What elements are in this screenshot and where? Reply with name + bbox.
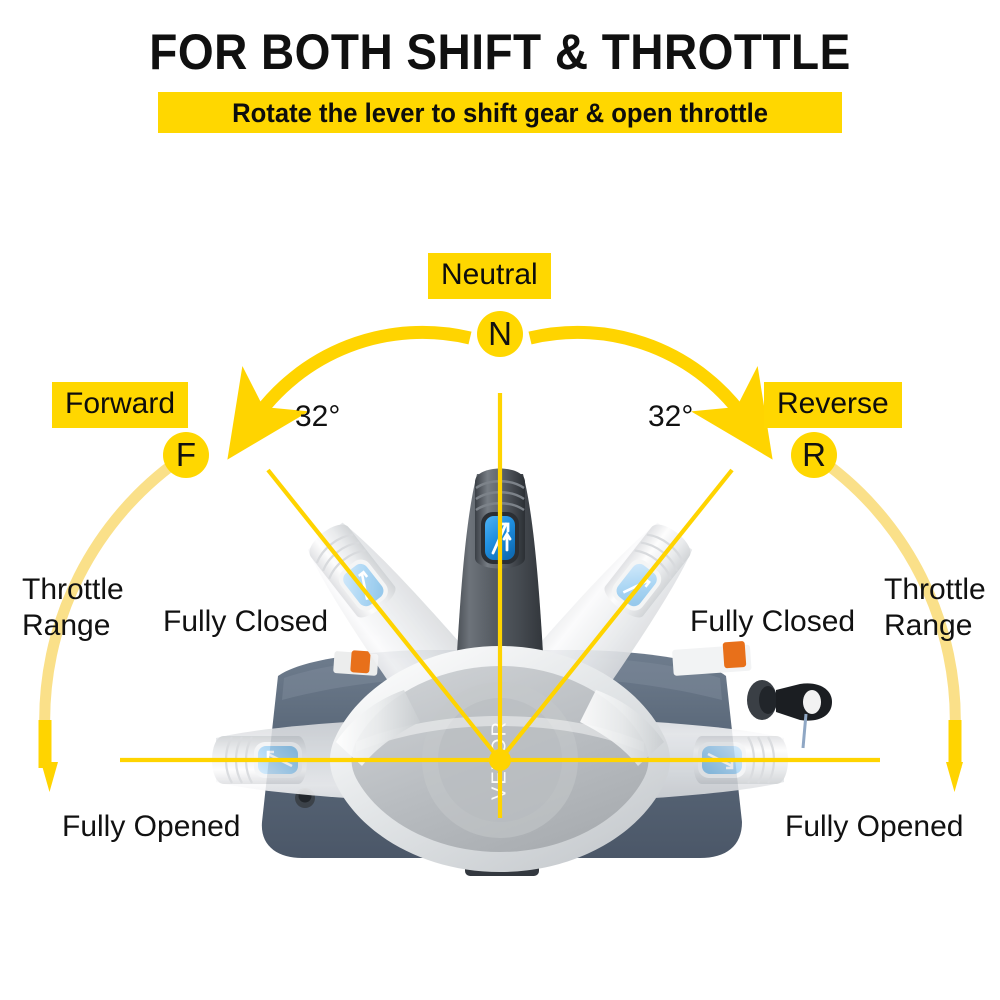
gear-marker-reverse: R	[791, 432, 837, 478]
gear-label-reverse: Reverse	[764, 382, 902, 428]
angle-label-left: 32°	[295, 400, 340, 434]
throttle-arrowhead-right	[946, 762, 963, 792]
fully-opened-label-left: Fully Opened	[62, 810, 240, 844]
warning-decal-right	[672, 641, 752, 676]
throttle-arrowhead-left	[41, 762, 58, 792]
angle-label-right: 32°	[648, 400, 693, 434]
gear-label-forward: Forward	[52, 382, 188, 428]
key-ring-hole	[803, 690, 821, 714]
diagram-svg: VEVOR	[0, 0, 1000, 1000]
fully-closed-label-left: Fully Closed	[163, 605, 328, 639]
gear-marker-neutral: N	[477, 311, 523, 357]
fully-opened-label-right: Fully Opened	[785, 810, 963, 844]
rotation-arc-reverse	[530, 332, 747, 422]
rotation-arc-forward	[253, 332, 470, 422]
fully-closed-label-right: Fully Closed	[690, 605, 855, 639]
pivot-point-dot	[489, 749, 511, 771]
gear-label-neutral: Neutral	[428, 253, 551, 299]
key-barrel-inner	[759, 686, 777, 714]
control-unit: VEVOR	[212, 469, 832, 877]
throttle-range-label-left: Throttle Range	[22, 572, 172, 644]
throttle-shift-diagram: VEVOR	[0, 0, 1000, 1000]
gear-marker-forward: F	[163, 432, 209, 478]
throttle-range-label-right: Throttle Range	[884, 572, 1000, 644]
